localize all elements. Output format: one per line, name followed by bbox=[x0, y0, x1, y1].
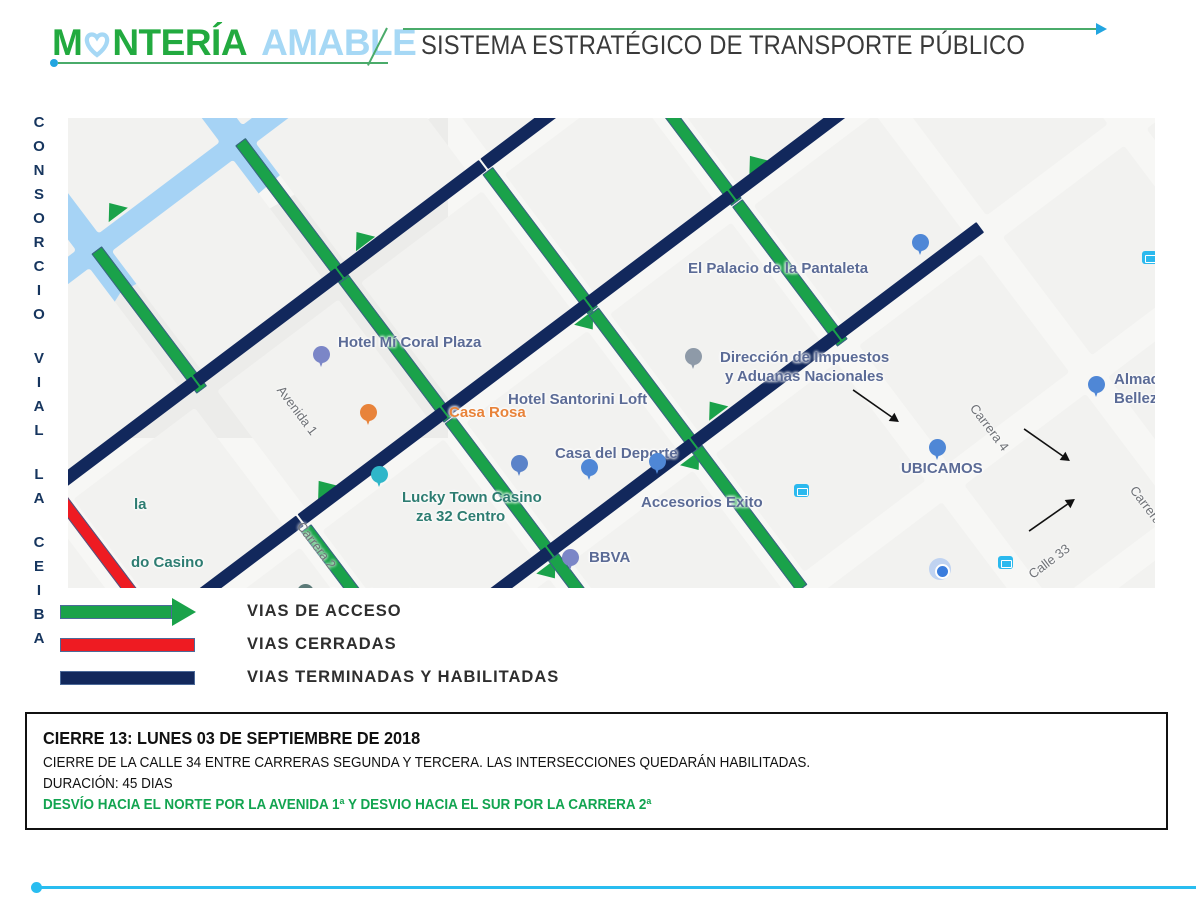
road-closed-segment bbox=[68, 491, 168, 588]
current-location-icon bbox=[929, 558, 951, 580]
map-pin-icon bbox=[685, 348, 702, 370]
road-finished-segment bbox=[193, 268, 343, 386]
header-arrow-icon bbox=[1096, 23, 1107, 35]
page-header: M NTERÍA AMABLE SISTEMA ESTRATÉGICO DE T… bbox=[0, 0, 1200, 90]
legend-row: VIAS DE ACCESO bbox=[60, 595, 700, 628]
header-slash-divider bbox=[386, 28, 408, 64]
vertical-label-char: C bbox=[34, 530, 45, 554]
road-finished-segment bbox=[337, 160, 487, 278]
legend-label: VIAS DE ACCESO bbox=[247, 602, 402, 621]
legend-label: VIAS TERMINADAS Y HABILITADAS bbox=[247, 668, 559, 687]
transit-stop-icon bbox=[998, 556, 1013, 569]
vertical-label-char: A bbox=[34, 486, 45, 510]
map-pin-icon bbox=[371, 466, 388, 488]
map-poi-label: do Casino bbox=[131, 554, 204, 571]
consortium-vertical-label: CONSORCIOVIALLACEIBA bbox=[26, 110, 52, 650]
vertical-label-char: I bbox=[37, 278, 41, 302]
legend-swatch bbox=[60, 671, 195, 685]
road-finished-segment bbox=[154, 516, 304, 588]
closure-info-box: CIERRE 13: LUNES 03 DE SEPTIEMBRE DE 201… bbox=[25, 712, 1168, 830]
transit-stop-icon bbox=[794, 484, 809, 497]
vertical-label-char: A bbox=[34, 394, 45, 418]
road-access-segment bbox=[692, 445, 808, 588]
road-finished-segment bbox=[585, 191, 735, 309]
map-pin-icon bbox=[313, 346, 330, 368]
header-dot-icon bbox=[50, 59, 58, 67]
vertical-label-char: N bbox=[34, 158, 45, 182]
footer-rule bbox=[38, 886, 1196, 889]
legend-label: VIAS CERRADAS bbox=[247, 635, 397, 654]
map-poi-label: Hotel Santorini Loft bbox=[508, 391, 647, 408]
legend-swatch bbox=[60, 605, 195, 619]
map-canvas: El Palacio de la PantaletaHotel Mí Coral… bbox=[68, 118, 1155, 588]
legend-row: VIAS TERMINADAS Y HABILITADAS bbox=[60, 661, 700, 694]
vertical-label-char: R bbox=[34, 230, 45, 254]
closure-title: CIERRE 13: LUNES 03 DE SEPTIEMBRE DE 201… bbox=[43, 728, 1073, 749]
transit-stop-icon bbox=[1142, 251, 1155, 264]
road-finished-segment bbox=[834, 222, 984, 340]
legend-row: VIAS CERRADAS bbox=[60, 628, 700, 661]
legend-swatch-bar bbox=[60, 638, 195, 652]
closure-description: CIERRE DE LA CALLE 34 ENTRE CARRERAS SEG… bbox=[43, 755, 1073, 771]
road-finished-segment bbox=[68, 377, 199, 495]
vertical-label-char: A bbox=[34, 626, 45, 650]
header-rule-bottom bbox=[58, 62, 388, 64]
legend-swatch-bar bbox=[60, 671, 195, 685]
legend-arrowhead-icon bbox=[172, 598, 196, 626]
road-access-segment bbox=[235, 138, 351, 286]
map-poi-label: Lucky Town Casino bbox=[402, 489, 542, 506]
map-poi-label: Tigo Monteria bbox=[329, 586, 420, 588]
map-pin-icon bbox=[511, 455, 528, 477]
map-poi-label: Belleza Sa bbox=[1114, 390, 1155, 407]
brand-logo: M NTERÍA AMABLE bbox=[52, 20, 416, 64]
map-pin-icon bbox=[562, 549, 579, 571]
logo-letter-m: M bbox=[52, 22, 82, 63]
vertical-label-char: B bbox=[34, 602, 45, 626]
map-pin-icon bbox=[929, 439, 946, 461]
map-pin-icon bbox=[297, 584, 314, 588]
vertical-label-char: I bbox=[37, 370, 41, 394]
map-pin-icon bbox=[649, 453, 666, 475]
logo-monteria-rest: NTERÍA bbox=[112, 22, 247, 63]
vertical-label-char: V bbox=[34, 346, 44, 370]
map-poi-label: El Palacio de la Pantaleta bbox=[688, 260, 868, 277]
road-finished-segment bbox=[690, 330, 840, 448]
legend-swatch bbox=[60, 638, 195, 652]
map-poi-label: la bbox=[134, 496, 147, 513]
map-pin-icon bbox=[581, 459, 598, 481]
route-arrowhead-icon bbox=[163, 583, 191, 588]
map-pin-icon bbox=[360, 404, 377, 426]
road-access-segment bbox=[482, 167, 598, 315]
road-access-segment bbox=[91, 246, 207, 394]
vertical-label-char: C bbox=[34, 254, 45, 278]
vertical-label-char: L bbox=[34, 462, 43, 486]
map-legend: VIAS DE ACCESOVIAS CERRADASVIAS TERMINAD… bbox=[60, 595, 700, 694]
vertical-label-char: O bbox=[33, 206, 45, 230]
closure-duration: DURACIÓN: 45 DIAS bbox=[43, 776, 1073, 792]
map-poi-label: za 32 Centro bbox=[416, 508, 505, 525]
map-poi-label: Accesorios Exito bbox=[641, 494, 763, 511]
road-access-segment bbox=[588, 307, 704, 455]
vertical-label-char: O bbox=[33, 134, 45, 158]
vertical-label-char: I bbox=[37, 578, 41, 602]
map-poi-label: Dirección de Impuestos bbox=[720, 349, 889, 366]
road-finished-segment bbox=[480, 118, 630, 169]
footer-dot-icon bbox=[31, 882, 42, 893]
route-arrowhead-icon bbox=[99, 196, 127, 222]
page-title: SISTEMA ESTRATÉGICO DE TRANSPORTE PÚBLIC… bbox=[421, 30, 1025, 61]
map-pin-icon bbox=[1088, 376, 1105, 398]
map-pin-icon bbox=[912, 234, 929, 256]
closure-detour: DESVÍO HACIA EL NORTE POR LA AVENIDA 1ª … bbox=[43, 797, 1073, 813]
map-poi-label: y Aduanas Nacionales bbox=[725, 368, 884, 385]
closure-map[interactable]: El Palacio de la PantaletaHotel Mí Coral… bbox=[68, 118, 1155, 588]
map-poi-label: UBICAMOS bbox=[901, 460, 983, 477]
map-poi-label: BBVA bbox=[589, 549, 630, 566]
vertical-label-char: O bbox=[33, 302, 45, 326]
vertical-label-char: L bbox=[34, 418, 43, 442]
vertical-label-char: C bbox=[34, 110, 45, 134]
logo-monteria-text: M NTERÍA bbox=[52, 24, 247, 61]
map-poi-label: Casa Rosa bbox=[449, 404, 526, 421]
map-poi-label: Almacén d bbox=[1114, 371, 1155, 388]
vertical-label-char: S bbox=[34, 182, 44, 206]
vertical-label-char: E bbox=[34, 554, 44, 578]
heart-icon bbox=[82, 28, 112, 58]
road-finished-segment bbox=[403, 547, 553, 588]
route-arrow-layer bbox=[68, 118, 1155, 588]
map-poi-label: Hotel Mí Coral Plaza bbox=[338, 334, 481, 351]
legend-swatch-bar bbox=[60, 605, 172, 619]
